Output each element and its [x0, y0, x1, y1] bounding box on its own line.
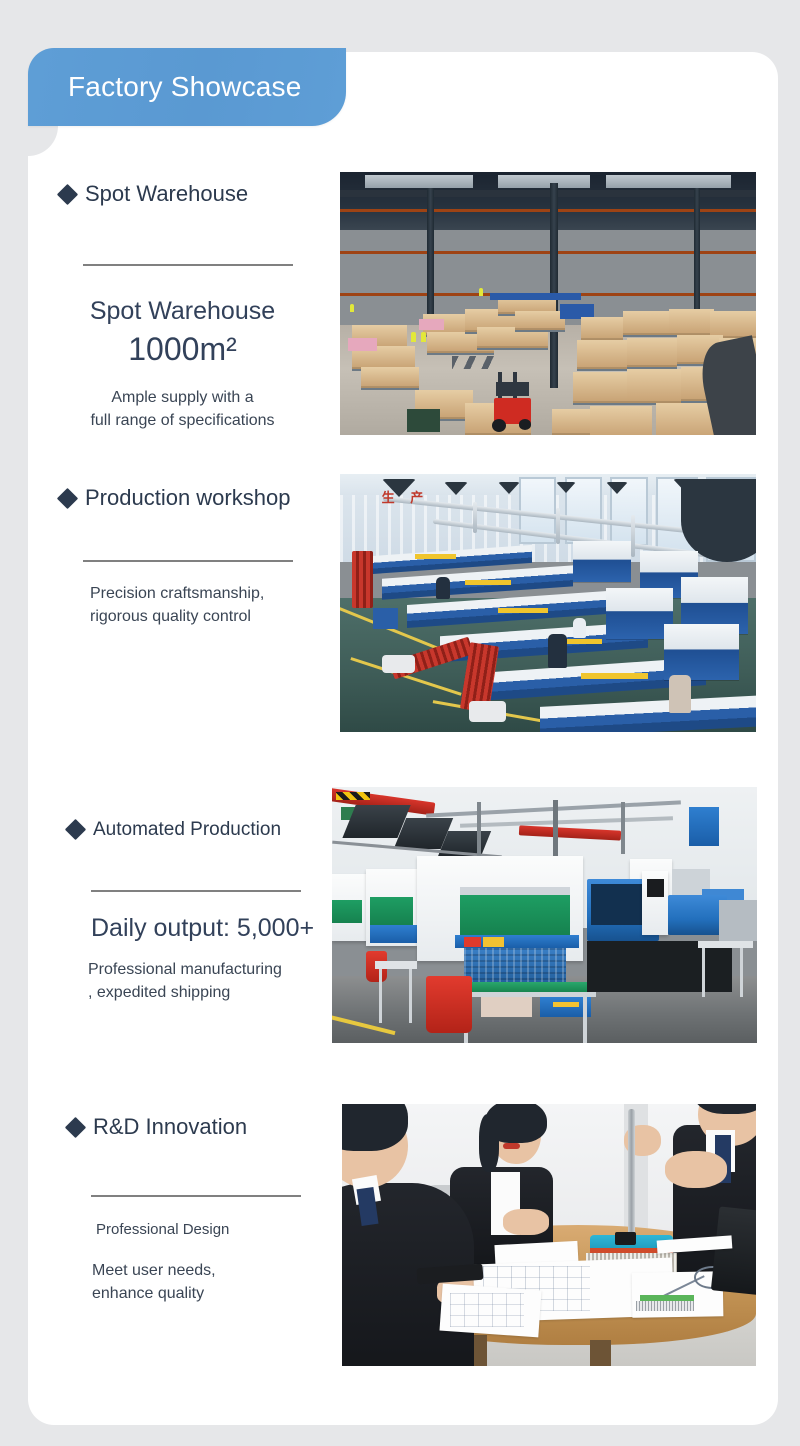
section-2-heading: Production workshop: [60, 487, 322, 509]
section-2-title: Production workshop: [85, 487, 290, 509]
section-4-text: R&D Innovation Professional Design Meet …: [68, 1116, 338, 1305]
header-tab: Factory Showcase: [28, 48, 346, 126]
section-1-heading: Spot Warehouse: [60, 183, 322, 205]
section-2-text: Production workshop Precision craftsmans…: [60, 487, 322, 628]
section-4-divider: [91, 1195, 301, 1197]
diamond-icon: [65, 819, 86, 840]
workshop-wall-text: 生 产: [382, 487, 430, 506]
warehouse-photo: [340, 172, 756, 435]
section-3-title: Automated Production: [93, 820, 281, 839]
section-2-divider: [83, 560, 293, 562]
diamond-icon: [57, 183, 78, 204]
section-4-desc-line-1: Meet user needs,: [92, 1259, 338, 1282]
diamond-icon: [57, 487, 78, 508]
section-4-desc-line-2: enhance quality: [92, 1282, 338, 1305]
section-1-headline: Spot Warehouse: [60, 296, 305, 327]
section-4-heading: R&D Innovation: [68, 1116, 338, 1138]
section-3-text: Automated Production Daily output: 5,000…: [68, 820, 338, 1005]
automated-production-photo: [332, 787, 757, 1043]
section-1-desc-line-2: full range of specifications: [60, 409, 305, 432]
section-2-desc-line-1: Precision craftsmanship,: [90, 582, 322, 605]
section-3-heading: Automated Production: [68, 820, 338, 839]
factory-showcase-page: Factory Showcase Spot Warehouse Spot War…: [0, 0, 800, 1446]
section-1-stat: 1000m²: [60, 329, 305, 369]
section-3-divider: [91, 890, 301, 892]
section-1-desc-line-1: Ample supply with a: [60, 386, 305, 409]
rd-innovation-photo: [342, 1104, 756, 1366]
diamond-icon: [65, 1116, 86, 1137]
section-3-desc-line-1: Professional manufacturing: [88, 958, 338, 981]
section-3-headline: Daily output: 5,000+: [91, 913, 338, 944]
section-1-title: Spot Warehouse: [85, 183, 248, 205]
production-workshop-photo: 生 产: [340, 474, 756, 732]
section-3-desc-line-2: , expedited shipping: [88, 981, 338, 1004]
section-4-headline: Professional Design: [96, 1219, 338, 1241]
section-1-divider: [83, 264, 293, 266]
section-1-text: Spot Warehouse Spot Warehouse 1000m² Amp…: [60, 183, 322, 433]
tab-notch: [28, 126, 58, 156]
section-4-title: R&D Innovation: [93, 1116, 247, 1138]
section-2-desc-line-2: rigorous quality control: [90, 605, 322, 628]
page-title: Factory Showcase: [68, 71, 302, 103]
